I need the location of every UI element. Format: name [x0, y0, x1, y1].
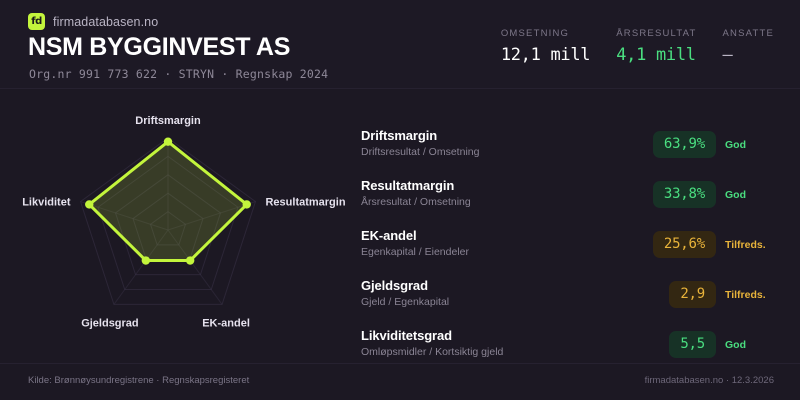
- metric-value-group: 25,6% Tilfreds.: [653, 231, 779, 258]
- kpi-label: ÅRSRESULTAT: [616, 28, 696, 39]
- kpi-arsresultat: ÅRSRESULTAT 4,1 mill: [616, 28, 696, 65]
- radar-chart-svg: DriftsmarginResultatmarginEK-andelGjelds…: [0, 88, 355, 353]
- metric-row-gjeldsgrad: Gjeldsgrad Gjeld / Egenkapital 2,9 Tilfr…: [361, 278, 779, 318]
- company-meta-line: Org.nr 991 773 622 · STRYN · Regnskap 20…: [29, 67, 328, 81]
- header-band: fd firmadatabasen.no NSM BYGGINVEST AS O…: [0, 0, 800, 89]
- page-title: NSM BYGGINVEST AS: [28, 33, 290, 62]
- radar-axis-label-resultatmargin: Resultatmargin: [265, 197, 345, 209]
- kpi-group: OMSETNING 12,1 mill ÅRSRESULTAT 4,1 mill…: [501, 28, 774, 65]
- radar-series-area: [89, 142, 246, 261]
- footer-timestamp: firmadatabasen.no · 12.3.2026: [645, 375, 774, 386]
- brand[interactable]: fd firmadatabasen.no: [28, 13, 158, 30]
- radar-axis-label-driftsmargin: Driftsmargin: [135, 115, 201, 127]
- kpi-ansatte: ANSATTE –: [722, 28, 774, 65]
- fd-logo-icon: fd: [28, 13, 45, 30]
- kpi-omsetning: OMSETNING 12,1 mill: [501, 28, 590, 65]
- radar-axis-label-gjeldsgrad: Gjeldsgrad: [81, 317, 138, 329]
- metric-value-badge: 5,5: [669, 331, 716, 358]
- kpi-label: ANSATTE: [722, 28, 774, 39]
- radar-axis-label-likviditet: Likviditet: [22, 197, 71, 209]
- kpi-label: OMSETNING: [501, 28, 590, 39]
- brand-site-name: firmadatabasen.no: [53, 15, 158, 29]
- metric-value-badge: 2,9: [669, 281, 716, 308]
- metric-row-likviditetsgrad: Likviditetsgrad Omløpsmidler / Kortsikti…: [361, 328, 779, 368]
- company-key-figures-card: fd firmadatabasen.no NSM BYGGINVEST AS O…: [0, 0, 800, 400]
- radar-chart: DriftsmarginResultatmarginEK-andelGjelds…: [0, 88, 355, 353]
- radar-axis-label-ek-andel: EK-andel: [202, 317, 250, 329]
- metric-value-group: 63,9% God: [653, 131, 779, 158]
- kpi-value: 12,1 mill: [501, 45, 590, 65]
- metric-row-ek-andel: EK-andel Egenkapital / Eiendeler 25,6% T…: [361, 228, 779, 268]
- metric-value-badge: 63,9%: [653, 131, 716, 158]
- kpi-value: –: [722, 45, 774, 65]
- status-badge: God: [725, 189, 779, 201]
- metric-value-group: 2,9 Tilfreds.: [669, 281, 779, 308]
- metric-value-badge: 33,8%: [653, 181, 716, 208]
- status-badge: Tilfreds.: [725, 289, 779, 301]
- kpi-value: 4,1 mill: [616, 45, 696, 65]
- footer-source-text: Kilde: Brønnøysundregistrene · Regnskaps…: [28, 375, 249, 386]
- metric-value-group: 5,5 God: [669, 331, 779, 358]
- metric-list: Driftsmargin Driftsresultat / Omsetning …: [361, 128, 779, 378]
- metric-value-group: 33,8% God: [653, 181, 779, 208]
- status-badge: God: [725, 139, 779, 151]
- metric-value-badge: 25,6%: [653, 231, 716, 258]
- footer-band: Kilde: Brønnøysundregistrene · Regnskaps…: [0, 363, 800, 400]
- status-badge: God: [725, 339, 779, 351]
- metric-row-driftsmargin: Driftsmargin Driftsresultat / Omsetning …: [361, 128, 779, 168]
- status-badge: Tilfreds.: [725, 239, 779, 251]
- metric-row-resultatmargin: Resultatmargin Årsresultat / Omsetning 3…: [361, 178, 779, 218]
